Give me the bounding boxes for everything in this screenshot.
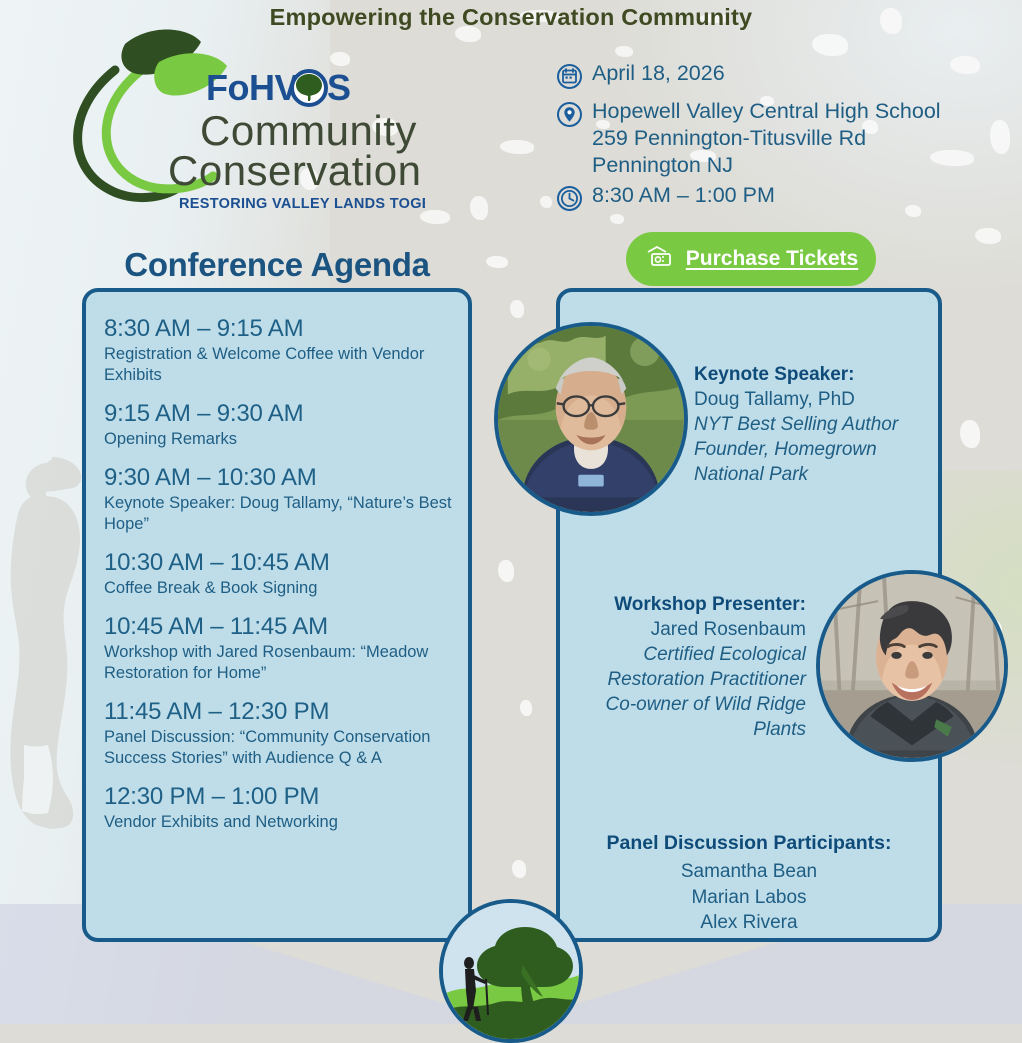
keynote-role-label: Keynote Speaker: [694, 362, 924, 387]
agenda-item-desc: Workshop with Jared Rosenbaum: “Meadow R… [104, 642, 468, 684]
venue-name: Hopewell Valley Central High School [592, 98, 941, 125]
agenda-card: 8:30 AM – 9:15 AM Registration & Welcome… [82, 288, 472, 942]
agenda-item: 8:30 AM – 9:15 AM Registration & Welcome… [104, 314, 468, 386]
calendar-icon [556, 60, 590, 95]
agenda-item: 9:30 AM – 10:30 AM Keynote Speaker: Doug… [104, 463, 468, 535]
logo-sub-tagline: RESTORING VALLEY LANDS TOGETHER [179, 196, 425, 212]
panel-participant: Marian Labos [560, 885, 938, 911]
agenda-item-desc: Registration & Welcome Coffee with Vendo… [104, 344, 468, 386]
panel-participant: Alex Rivera [560, 910, 938, 936]
ticket-icon [644, 245, 676, 274]
page-title-conference-agenda: Conference Agenda [82, 246, 472, 284]
agenda-item-time: 12:30 PM – 1:00 PM [104, 782, 468, 812]
keynote-credential-1: NYT Best Selling Author [694, 412, 924, 437]
venue-city-state: Pennington NJ [592, 152, 941, 179]
panel-participants-block: Panel Discussion Participants: Samantha … [560, 832, 938, 936]
logo-wordmark: FoHV [206, 67, 298, 108]
detail-row-location: Hopewell Valley Central High School 259 … [556, 98, 976, 179]
keynote-speaker-info: Keynote Speaker: Doug Tallamy, PhD NYT B… [694, 362, 924, 487]
agenda-item-time: 10:45 AM – 11:45 AM [104, 612, 468, 642]
workshop-credential-4: Plants [566, 717, 806, 742]
agenda-item-time: 11:45 AM – 12:30 PM [104, 697, 468, 727]
hiker-silhouette-watermark [2, 455, 88, 885]
workshop-credential-1: Certified Ecological [566, 642, 806, 667]
event-time: 8:30 AM – 1:00 PM [590, 182, 775, 209]
agenda-list: 8:30 AM – 9:15 AM Registration & Welcome… [86, 292, 468, 833]
workshop-role-label: Workshop Presenter: [566, 592, 806, 617]
agenda-item: 9:15 AM – 9:30 AM Opening Remarks [104, 399, 468, 450]
agenda-item-time: 10:30 AM – 10:45 AM [104, 548, 468, 578]
keynote-speaker-photo [494, 322, 688, 516]
keynote-credential-3: National Park [694, 462, 924, 487]
workshop-name: Jared Rosenbaum [566, 617, 806, 642]
speakers-card: Keynote Speaker: Doug Tallamy, PhD NYT B… [556, 288, 942, 942]
logo-line2: Conservation [168, 147, 421, 194]
tree-badge-icon [439, 899, 583, 1043]
svg-text:S: S [327, 67, 351, 108]
fohvos-logo: FoHV S Community Conservation RESTORING … [55, 18, 425, 213]
agenda-item: 10:45 AM – 11:45 AM Workshop with Jared … [104, 612, 468, 684]
event-date: April 18, 2026 [590, 60, 725, 87]
agenda-item-time: 9:15 AM – 9:30 AM [104, 399, 468, 429]
detail-row-time: 8:30 AM – 1:00 PM [556, 182, 976, 217]
agenda-item-time: 8:30 AM – 9:15 AM [104, 314, 468, 344]
purchase-tickets-label: Purchase Tickets [686, 247, 858, 271]
purchase-tickets-button[interactable]: Purchase Tickets [626, 232, 876, 286]
agenda-item-desc: Opening Remarks [104, 429, 468, 450]
keynote-name: Doug Tallamy, PhD [694, 387, 924, 412]
agenda-item: 10:30 AM – 10:45 AM Coffee Break & Book … [104, 548, 468, 599]
agenda-item-desc: Panel Discussion: “Community Conservatio… [104, 727, 468, 769]
panel-participant: Samantha Bean [560, 859, 938, 885]
workshop-presenter-info: Workshop Presenter: Jared Rosenbaum Cert… [566, 592, 806, 742]
agenda-item-time: 9:30 AM – 10:30 AM [104, 463, 468, 493]
agenda-item-desc: Vendor Exhibits and Networking [104, 812, 468, 833]
event-location: Hopewell Valley Central High School 259 … [590, 98, 941, 179]
agenda-item-desc: Coffee Break & Book Signing [104, 578, 468, 599]
agenda-item-desc: Keynote Speaker: Doug Tallamy, “Nature’s… [104, 493, 468, 535]
panel-heading: Panel Discussion Participants: [560, 832, 938, 855]
agenda-item: 11:45 AM – 12:30 PM Panel Discussion: “C… [104, 697, 468, 769]
keynote-credential-2: Founder, Homegrown [694, 437, 924, 462]
workshop-presenter-photo [816, 570, 1008, 762]
clock-icon [556, 182, 590, 217]
location-pin-icon [556, 98, 590, 133]
event-details: April 18, 2026 Hopewell Valley Central H… [556, 60, 976, 220]
detail-row-date: April 18, 2026 [556, 60, 976, 95]
venue-address: 259 Pennington-Titusville Rd [592, 125, 941, 152]
agenda-item: 12:30 PM – 1:00 PM Vendor Exhibits and N… [104, 782, 468, 833]
workshop-credential-3: Co-owner of Wild Ridge [566, 692, 806, 717]
workshop-credential-2: Restoration Practitioner [566, 667, 806, 692]
